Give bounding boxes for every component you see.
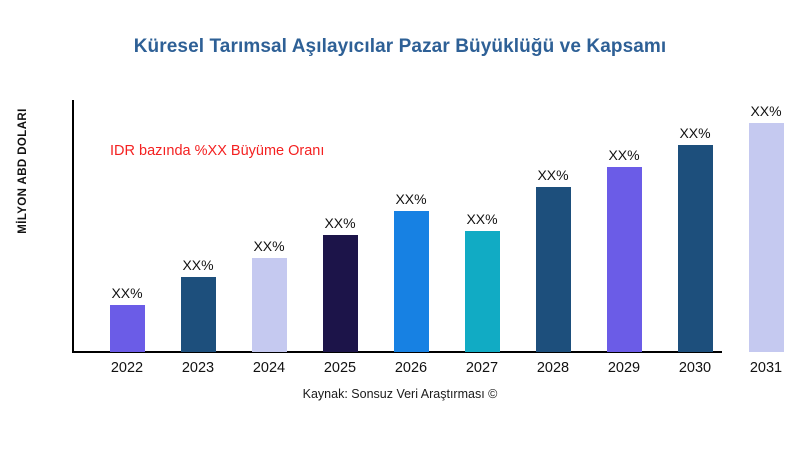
bar-value-label: XX% [234, 238, 304, 254]
bar-2024[interactable] [252, 258, 287, 352]
bar-value-label: XX% [305, 215, 375, 231]
bar-group[interactable]: XX%2023 [163, 277, 233, 352]
x-axis-tick-2024: 2024 [234, 360, 304, 376]
bar-value-label: XX% [518, 167, 588, 183]
x-axis-tick-2023: 2023 [163, 360, 233, 376]
bar-value-label: XX% [660, 125, 730, 141]
x-axis-tick-2026: 2026 [376, 360, 446, 376]
bar-value-label: XX% [376, 191, 446, 207]
bar-value-label: XX% [92, 285, 162, 301]
growth-rate-annotation: IDR bazında %XX Büyüme Oranı [110, 143, 324, 159]
bar-2029[interactable] [607, 167, 642, 352]
bar-group[interactable]: XX%2026 [376, 211, 446, 352]
bar-2028[interactable] [536, 187, 571, 352]
plot-area: XX%2022XX%2023XX%2024XX%2025XX%2026XX%20… [0, 0, 800, 450]
source-note: Kaynak: Sonsuz Veri Araştırması © [0, 387, 800, 401]
bar-group[interactable]: XX%2024 [234, 258, 304, 352]
bar-value-label: XX% [163, 257, 233, 273]
bar-group[interactable]: XX%2030 [660, 145, 730, 352]
bar-2030[interactable] [678, 145, 713, 352]
bar-2031[interactable] [749, 123, 784, 352]
x-axis-tick-2031: 2031 [731, 360, 800, 376]
bar-group[interactable]: XX%2029 [589, 167, 659, 352]
bar-group[interactable]: XX%2031 [731, 123, 800, 352]
bar-chart: Küresel Tarımsal Aşılayıcılar Pazar Büyü… [0, 0, 800, 450]
x-axis-tick-2030: 2030 [660, 360, 730, 376]
bar-2022[interactable] [110, 305, 145, 352]
bar-2023[interactable] [181, 277, 216, 352]
bar-group[interactable]: XX%2027 [447, 231, 517, 352]
bar-group[interactable]: XX%2028 [518, 187, 588, 352]
bar-group[interactable]: XX%2025 [305, 235, 375, 352]
x-axis-tick-2027: 2027 [447, 360, 517, 376]
bar-value-label: XX% [447, 211, 517, 227]
x-axis-tick-2028: 2028 [518, 360, 588, 376]
bar-value-label: XX% [589, 147, 659, 163]
bar-2026[interactable] [394, 211, 429, 352]
bar-2025[interactable] [323, 235, 358, 352]
bar-group[interactable]: XX%2022 [92, 305, 162, 352]
x-axis-tick-2029: 2029 [589, 360, 659, 376]
x-axis-tick-2022: 2022 [92, 360, 162, 376]
bar-2027[interactable] [465, 231, 500, 352]
bar-value-label: XX% [731, 103, 800, 119]
x-axis-tick-2025: 2025 [305, 360, 375, 376]
